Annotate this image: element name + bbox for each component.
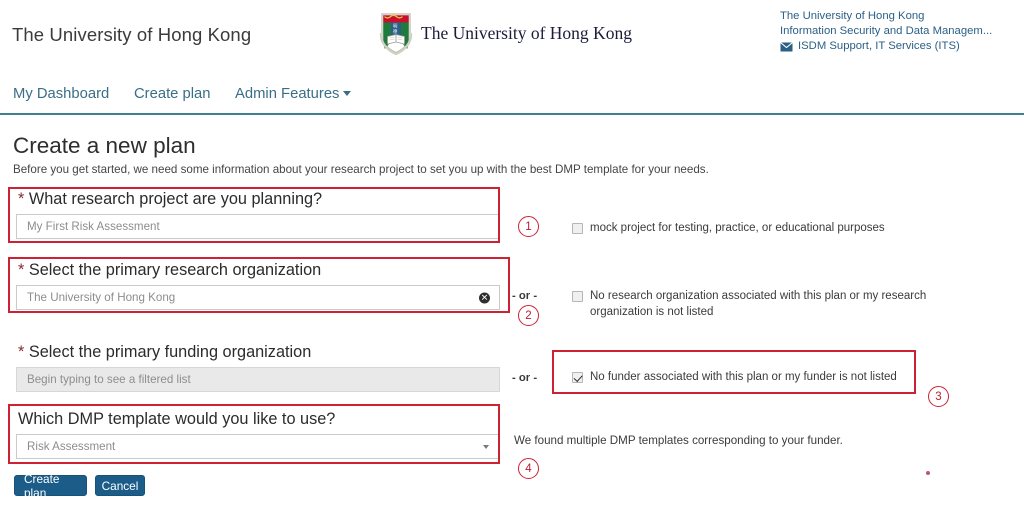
user-department-line: Information Security and Data Managem...	[780, 24, 1010, 39]
no-funder-checkbox-row[interactable]: No funder associated with this plan or m…	[572, 370, 942, 386]
cancel-button[interactable]: Cancel	[95, 475, 145, 496]
clear-circle-x-icon[interactable]: ✕	[479, 292, 490, 303]
nav-label-my-dashboard: My Dashboard	[13, 86, 109, 102]
research-org-value: The University of Hong Kong	[27, 291, 175, 304]
funding-org-label-text: Select the primary funding organization	[29, 343, 311, 361]
create-plan-button-label: Create plan	[24, 472, 77, 500]
chevron-down-icon	[343, 91, 351, 96]
required-marker-funding-org: *	[18, 343, 24, 361]
page-root: The University of Hong Kong 明 德 The Univ…	[0, 0, 1024, 511]
annotation-number-3: 3	[928, 386, 949, 407]
nav-label-create-plan: Create plan	[134, 86, 211, 102]
organization-name: The University of Hong Kong	[12, 24, 251, 46]
mock-project-checkbox-row[interactable]: mock project for testing, practice, or e…	[572, 221, 892, 237]
funding-org-input[interactable]: Begin typing to see a filtered list	[16, 367, 500, 392]
no-research-org-checkbox[interactable]	[572, 291, 583, 302]
annotation-number-2: 2	[518, 305, 539, 326]
no-funder-checkbox[interactable]	[572, 372, 583, 383]
annotation-dot	[926, 471, 930, 475]
mock-project-checkbox[interactable]	[572, 223, 583, 234]
nav-item-admin-features[interactable]: Admin Features	[235, 86, 351, 102]
annotation-number-4: 4	[518, 458, 539, 479]
nav-label-admin-features: Admin Features	[235, 86, 339, 102]
template-selected-value: Risk Assessment	[27, 440, 115, 453]
user-affiliation-block: The University of Hong Kong Information …	[780, 9, 1010, 54]
mock-project-checkbox-label: mock project for testing, practice, or e…	[590, 221, 885, 237]
main-navigation: My Dashboard Create plan Admin Features	[0, 82, 1024, 115]
research-org-input[interactable]: The University of Hong Kong ✕	[16, 285, 500, 310]
project-name-value: My First Risk Assessment	[27, 220, 160, 233]
nav-item-create-plan[interactable]: Create plan	[134, 86, 211, 102]
svg-text:明: 明	[393, 24, 398, 30]
logo-wordmark: The University of Hong Kong	[421, 23, 632, 44]
required-marker-project: *	[18, 190, 24, 208]
annotation-number-1: 1	[518, 216, 539, 237]
project-label-text: What research project are you planning?	[29, 190, 322, 208]
support-contact-link[interactable]: ISDM Support, IT Services (ITS)	[780, 39, 1010, 54]
project-name-input[interactable]: My First Risk Assessment	[16, 214, 500, 239]
funding-org-field-label: * Select the primary funding organizatio…	[18, 343, 311, 362]
no-research-org-checkbox-row[interactable]: No research organization associated with…	[572, 289, 976, 320]
research-org-field-label: * Select the primary research organizati…	[18, 261, 321, 280]
or-separator-funding-org: - or -	[512, 372, 537, 384]
template-field-label: Which DMP template would you like to use…	[18, 410, 335, 429]
no-research-org-checkbox-label: No research organization associated with…	[590, 289, 976, 320]
funding-org-placeholder: Begin typing to see a filtered list	[27, 373, 191, 386]
site-header: The University of Hong Kong 明 德 The Univ…	[0, 0, 1024, 78]
hku-crest-icon: 明 德	[378, 11, 414, 55]
page-title: Create a new plan	[13, 133, 196, 159]
cancel-button-label: Cancel	[102, 479, 139, 493]
nav-item-my-dashboard[interactable]: My Dashboard	[13, 86, 109, 102]
template-label-text: Which DMP template would you like to use…	[18, 410, 335, 428]
svg-text:德: 德	[393, 28, 398, 35]
or-separator-research-org: - or -	[512, 290, 537, 302]
required-marker-research-org: *	[18, 261, 24, 279]
create-plan-button[interactable]: Create plan	[14, 475, 87, 496]
chevron-down-icon	[483, 445, 489, 449]
research-org-label-text: Select the primary research organization	[29, 261, 321, 279]
page-subtitle: Before you get started, we need some inf…	[13, 163, 709, 176]
site-logo: 明 德 The University of Hong Kong	[378, 11, 632, 55]
template-select[interactable]: Risk Assessment	[16, 434, 500, 459]
user-org-line: The University of Hong Kong	[780, 9, 1010, 24]
support-contact-label: ISDM Support, IT Services (ITS)	[798, 39, 960, 54]
template-helper-text: We found multiple DMP templates correspo…	[514, 434, 843, 447]
no-funder-checkbox-label: No funder associated with this plan or m…	[590, 370, 897, 386]
envelope-icon	[780, 42, 793, 52]
project-field-label: * What research project are you planning…	[18, 190, 322, 209]
